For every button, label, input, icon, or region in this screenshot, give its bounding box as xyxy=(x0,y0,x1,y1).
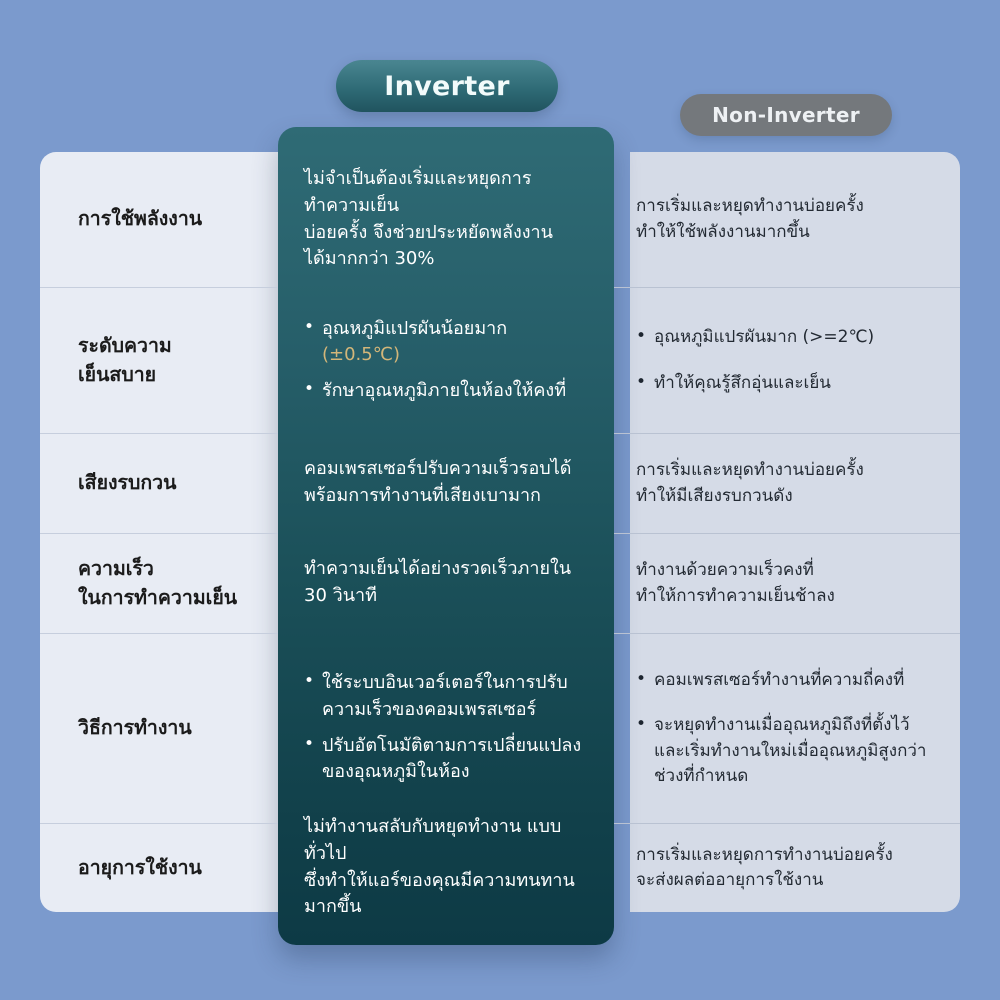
text-line: เสียงรบกวน xyxy=(78,471,176,494)
temperature-highlight: (±0.5℃) xyxy=(322,344,400,365)
cell-text: ทำความเย็นได้อย่างรวดเร็วภายใน30 วินาที xyxy=(304,556,592,609)
row-inverter-cell: คอมเพรสเซอร์ปรับความเร็วรอบได้พร้อมการทำ… xyxy=(278,433,614,533)
row-inverter-cell: ไม่จำเป็นต้องเริ่มและหยุดการทำความเย็นบ่… xyxy=(278,152,614,287)
row-non-inverter-cell: การเริ่มและหยุดทำงานบ่อยครั้งทำให้มีเสีย… xyxy=(614,433,960,533)
inverter-badge: Inverter xyxy=(336,60,558,112)
bullet-item: ทำให้คุณรู้สึกอุ่นและเย็น xyxy=(636,371,936,396)
bullet-item: ปรับอัตโนมัติตามการเปลี่ยนแปลงของอุณหภูม… xyxy=(304,733,592,786)
cell-text: ไม่จำเป็นต้องเริ่มและหยุดการทำความเย็นบ่… xyxy=(304,166,592,273)
row-feature-label: การใช้พลังงาน xyxy=(40,152,278,287)
text-line: ทำให้ใช้พลังงานมากขึ้น xyxy=(636,222,810,242)
text-line: จะหยุดทำงานเมื่ออุณหภูมิถึงที่ตั้งไว้ xyxy=(654,715,910,735)
text-line: การเริ่มและหยุดทำงานบ่อยครั้ง xyxy=(636,460,864,480)
text-line: ความเร็วของคอมเพรสเซอร์ xyxy=(322,699,536,720)
bullet-item: อุณหภูมิแปรผันน้อยมาก(±0.5℃) xyxy=(304,316,592,369)
row-inverter-cell: ทำความเย็นได้อย่างรวดเร็วภายใน30 วินาที xyxy=(278,533,614,633)
cell-bullet-list: อุณหภูมิแปรผันมาก (>=2℃)ทำให้คุณรู้สึกอุ… xyxy=(636,325,936,395)
bullet-item: จะหยุดทำงานเมื่ออุณหภูมิถึงที่ตั้งไว้และ… xyxy=(636,713,936,788)
bullet-item: ใช้ระบบอินเวอร์เตอร์ในการปรับความเร็วของ… xyxy=(304,670,592,723)
text-line: ไม่ทำงานสลับกับหยุดทำงาน แบบทั่วไป xyxy=(304,816,561,864)
text-line: ไม่จำเป็นต้องเริ่มและหยุดการทำความเย็น xyxy=(304,168,532,216)
text-line: ทำให้คุณรู้สึกอุ่นและเย็น xyxy=(654,373,831,393)
comparison-table: การใช้พลังงานไม่จำเป็นต้องเริ่มและหยุดกา… xyxy=(40,152,960,912)
cell-text: ไม่ทำงานสลับกับหยุดทำงาน แบบทั่วไปซึ่งทำ… xyxy=(304,814,592,921)
cell-text: ทำงานด้วยความเร็วคงที่ทำให้การทำความเย็น… xyxy=(636,558,936,608)
row-inverter-cell: ไม่ทำงานสลับกับหยุดทำงาน แบบทั่วไปซึ่งทำ… xyxy=(278,823,614,912)
row-non-inverter-cell: การเริ่มและหยุดทำงานบ่อยครั้งทำให้ใช้พลั… xyxy=(614,152,960,287)
comparison-row: วิธีการทำงานใช้ระบบอินเวอร์เตอร์ในการปรั… xyxy=(40,633,960,823)
text-line: ทำความเย็นได้อย่างรวดเร็วภายใน xyxy=(304,558,571,579)
non-inverter-badge-label: Non-Inverter xyxy=(712,103,860,127)
comparison-row: เสียงรบกวนคอมเพรสเซอร์ปรับความเร็วรอบได้… xyxy=(40,433,960,533)
bullet-item: คอมเพรสเซอร์ทำงานที่ความถี่คงที่ xyxy=(636,668,936,693)
row-feature-label: ความเร็วในการทำความเย็น xyxy=(40,533,278,633)
bullet-item: อุณหภูมิแปรผันมาก (>=2℃) xyxy=(636,325,936,350)
text-line: การเริ่มและหยุดทำงานบ่อยครั้ง xyxy=(636,196,864,216)
text-line: พร้อมการทำงานที่เสียงเบามาก xyxy=(304,485,541,506)
text-line: จะส่งผลต่ออายุการใช้งาน xyxy=(636,870,823,890)
row-feature-label: เสียงรบกวน xyxy=(40,433,278,533)
feature-text: เสียงรบกวน xyxy=(78,469,176,497)
text-line: อุณหภูมิแปรผันมาก (>=2℃) xyxy=(654,327,874,347)
inverter-badge-label: Inverter xyxy=(384,71,509,102)
comparison-row: อายุการใช้งานไม่ทำงานสลับกับหยุดทำงาน แบ… xyxy=(40,823,960,912)
text-line: ช่วงที่กำหนด xyxy=(654,766,748,786)
comparison-rows: การใช้พลังงานไม่จำเป็นต้องเริ่มและหยุดกา… xyxy=(40,152,960,912)
cell-text: การเริ่มและหยุดทำงานบ่อยครั้งทำให้มีเสีย… xyxy=(636,458,936,508)
text-line: บ่อยครั้ง จึงช่วยประหยัดพลังงาน xyxy=(304,222,553,243)
text-line: ทำให้การทำความเย็นช้าลง xyxy=(636,586,835,606)
text-line: คอมเพรสเซอร์ปรับความเร็วรอบได้ xyxy=(304,458,571,479)
text-line: ในการทำความเย็น xyxy=(78,586,237,609)
text-line: ระดับความ xyxy=(78,334,172,357)
feature-text: วิธีการทำงาน xyxy=(78,714,192,742)
comparison-row: ความเร็วในการทำความเย็นทำความเย็นได้อย่า… xyxy=(40,533,960,633)
text-line: ปรับอัตโนมัติตามการเปลี่ยนแปลง xyxy=(322,735,581,756)
text-line: รักษาอุณหภูมิภายในห้องให้คงที่ xyxy=(322,380,566,401)
text-line: 30 วินาที xyxy=(304,585,377,606)
cell-bullet-list: อุณหภูมิแปรผันน้อยมาก(±0.5℃)รักษาอุณหภูม… xyxy=(304,316,592,405)
row-feature-label: วิธีการทำงาน xyxy=(40,633,278,823)
cell-bullet-list: คอมเพรสเซอร์ทำงานที่ความถี่คงที่จะหยุดทำ… xyxy=(636,668,936,789)
text-line: ใช้ระบบอินเวอร์เตอร์ในการปรับ xyxy=(322,672,568,693)
text-line: อายุการใช้งาน xyxy=(78,856,202,879)
bullet-item: รักษาอุณหภูมิภายในห้องให้คงที่ xyxy=(304,378,592,405)
cell-text: การเริ่มและหยุดการทำงานบ่อยครั้งจะส่งผลต… xyxy=(636,843,936,893)
row-inverter-cell: ใช้ระบบอินเวอร์เตอร์ในการปรับความเร็วของ… xyxy=(278,633,614,823)
row-feature-label: ระดับความเย็นสบาย xyxy=(40,287,278,433)
text-line: การเริ่มและหยุดการทำงานบ่อยครั้ง xyxy=(636,845,893,865)
feature-text: ความเร็วในการทำความเย็น xyxy=(78,555,237,612)
row-inverter-cell: อุณหภูมิแปรผันน้อยมาก(±0.5℃)รักษาอุณหภูม… xyxy=(278,287,614,433)
text-line: เย็นสบาย xyxy=(78,363,156,386)
text-line: และเริ่มทำงานใหม่เมื่ออุณหภูมิสูงกว่า xyxy=(654,741,926,761)
text-line: ได้มากกว่า 30% xyxy=(304,248,434,269)
row-feature-label: อายุการใช้งาน xyxy=(40,823,278,912)
text-line: อุณหภูมิแปรผันน้อยมาก xyxy=(322,318,507,339)
text-line: การใช้พลังงาน xyxy=(78,207,202,230)
text-line: วิธีการทำงาน xyxy=(78,716,192,739)
non-inverter-badge: Non-Inverter xyxy=(680,94,892,136)
text-line: คอมเพรสเซอร์ทำงานที่ความถี่คงที่ xyxy=(654,670,904,690)
row-non-inverter-cell: ทำงานด้วยความเร็วคงที่ทำให้การทำความเย็น… xyxy=(614,533,960,633)
comparison-row: ระดับความเย็นสบายอุณหภูมิแปรผันน้อยมาก(±… xyxy=(40,287,960,433)
row-non-inverter-cell: อุณหภูมิแปรผันมาก (>=2℃)ทำให้คุณรู้สึกอุ… xyxy=(614,287,960,433)
text-line: ทำงานด้วยความเร็วคงที่ xyxy=(636,560,814,580)
row-non-inverter-cell: การเริ่มและหยุดการทำงานบ่อยครั้งจะส่งผลต… xyxy=(614,823,960,912)
cell-text: คอมเพรสเซอร์ปรับความเร็วรอบได้พร้อมการทำ… xyxy=(304,456,592,509)
cell-text: การเริ่มและหยุดทำงานบ่อยครั้งทำให้ใช้พลั… xyxy=(636,194,936,244)
comparison-row: การใช้พลังงานไม่จำเป็นต้องเริ่มและหยุดกา… xyxy=(40,152,960,287)
feature-text: อายุการใช้งาน xyxy=(78,854,202,882)
row-non-inverter-cell: คอมเพรสเซอร์ทำงานที่ความถี่คงที่จะหยุดทำ… xyxy=(614,633,960,823)
feature-text: ระดับความเย็นสบาย xyxy=(78,332,172,389)
text-line: ทำให้มีเสียงรบกวนดัง xyxy=(636,486,793,506)
feature-text: การใช้พลังงาน xyxy=(78,205,202,233)
text-line: ของอุณหภูมิในห้อง xyxy=(322,761,470,782)
text-line: ซึ่งทำให้แอร์ของคุณมีความทนทานมากขึ้น xyxy=(304,870,575,918)
text-line: ความเร็ว xyxy=(78,557,154,580)
cell-bullet-list: ใช้ระบบอินเวอร์เตอร์ในการปรับความเร็วของ… xyxy=(304,670,592,786)
